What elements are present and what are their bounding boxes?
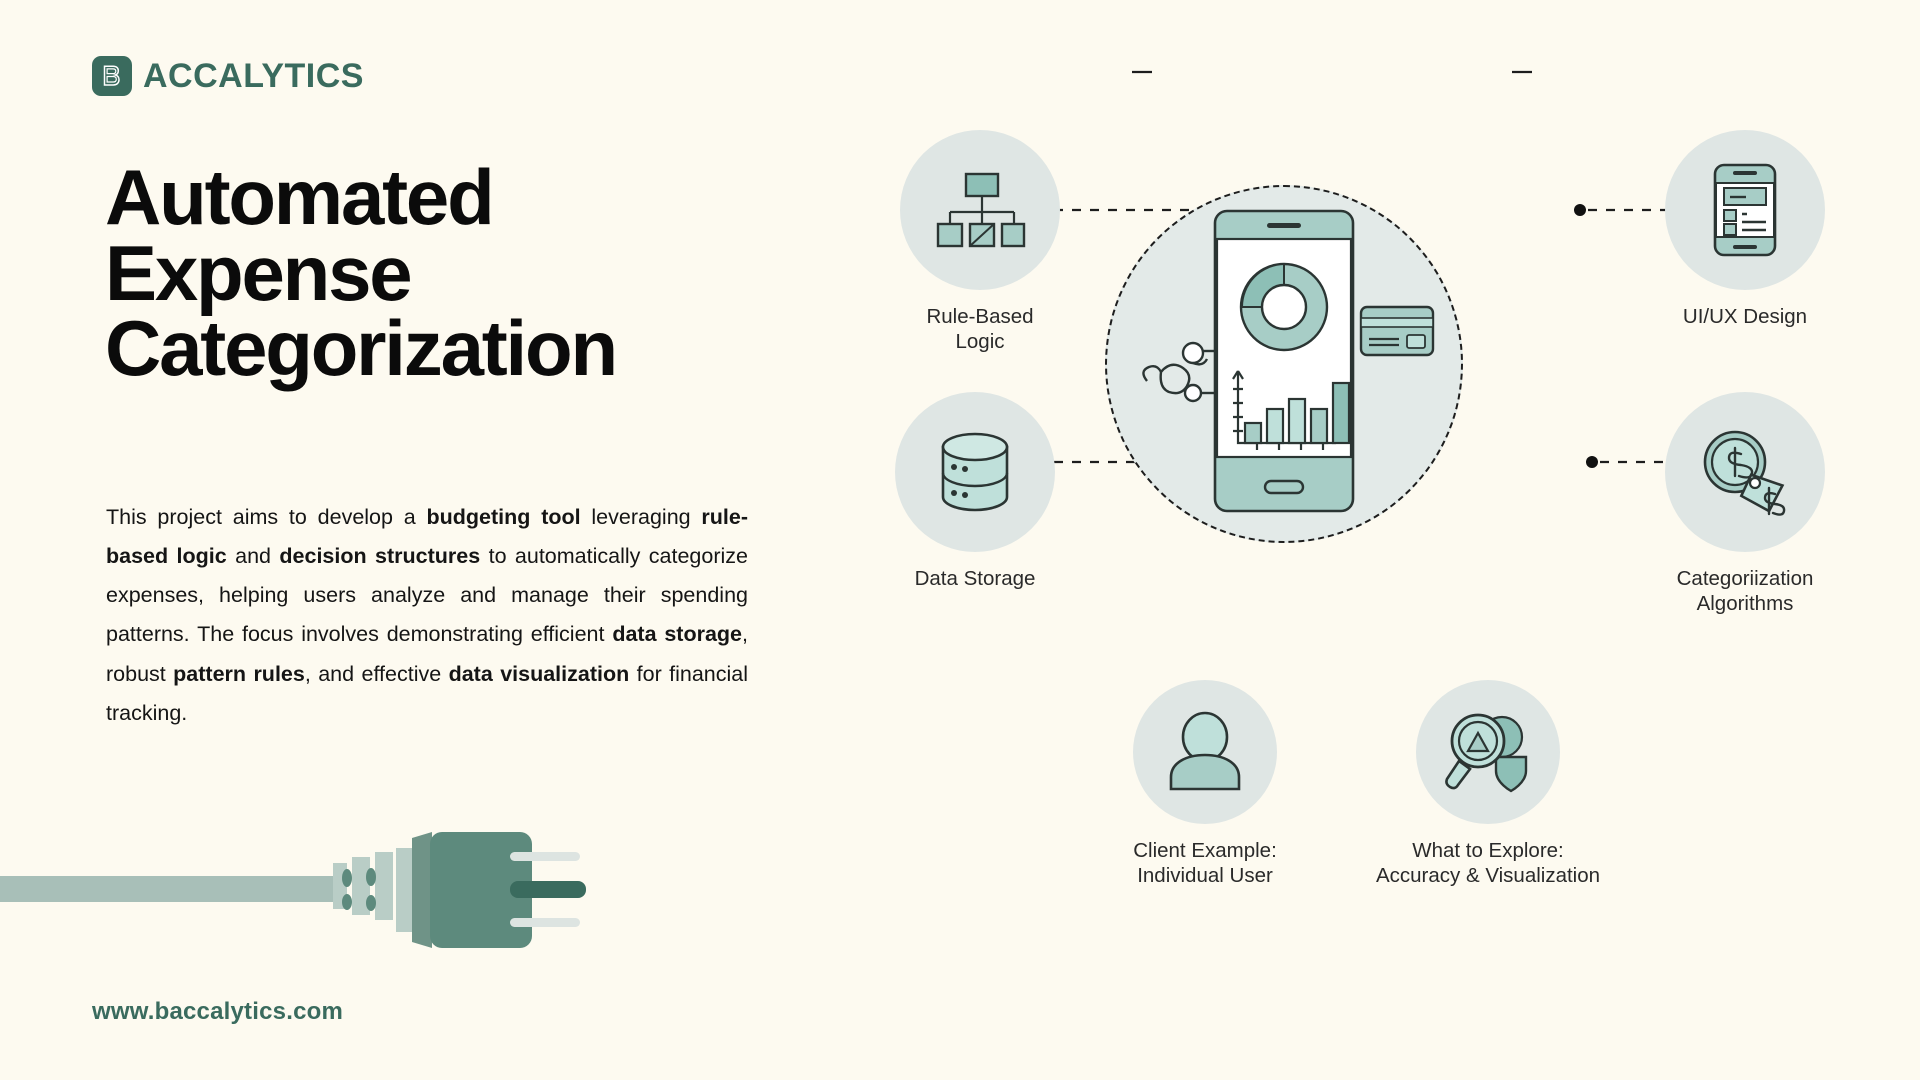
mobile-wireframe-icon [1665, 130, 1825, 290]
database-cylinder-icon [895, 392, 1055, 552]
magnifier-shield-icon [1416, 680, 1560, 824]
description-segment-4: and [227, 544, 280, 568]
b-monogram-icon [99, 63, 125, 89]
description-segment-11: data visualization [449, 662, 630, 686]
description-segment-1: budgeting tool [427, 505, 581, 529]
node-what-to-explore[interactable]: What to Explore: Accuracy & Visualizatio… [1348, 680, 1628, 888]
description-segment-7: data storage [612, 622, 742, 646]
page-title: Automated Expense Categorization [105, 160, 865, 387]
node-label-client-example: Client Example: Individual User [1115, 838, 1295, 888]
description-segment-2: leveraging [581, 505, 702, 529]
node-client-example[interactable]: Client Example: Individual User [1115, 680, 1295, 888]
title-line-1: Automated [105, 160, 865, 236]
node-categorization-algorithms[interactable]: Categoriization Algorithms [1665, 392, 1825, 616]
description-segment-5: decision structures [279, 544, 480, 568]
node-rule-based-logic[interactable]: Rule-Based Logic [900, 130, 1060, 354]
description-segment-0: This project aims to develop a [106, 505, 427, 529]
node-label-rule-based-logic: Rule-Based Logic [900, 304, 1060, 354]
node-label-ui-ux-design: UI/UX Design [1665, 304, 1825, 329]
node-ui-ux-design[interactable]: UI/UX Design [1665, 130, 1825, 329]
node-data-storage[interactable]: Data Storage [895, 392, 1055, 591]
title-line-2: Expense [105, 236, 865, 312]
description-segment-10: , and effective [305, 662, 449, 686]
node-label-what-to-explore: What to Explore: Accuracy & Visualizatio… [1348, 838, 1628, 888]
description-paragraph: This project aims to develop a budgeting… [106, 498, 748, 733]
smartphone-analytics-dashboard-icon [1105, 185, 1463, 543]
poster-canvas: ACCALYTICS Automated Expense Categorizat… [0, 0, 1920, 1080]
footer-website-url[interactable]: www.baccalytics.com [92, 998, 343, 1026]
concept-diagram: Rule-Based Logic Data Storage [900, 30, 1910, 1040]
coin-price-tag-icon [1665, 392, 1825, 552]
title-line-3: Categorization [105, 311, 865, 387]
logo-mark-icon [92, 56, 132, 96]
hierarchy-tree-icon [900, 130, 1060, 290]
hub-node [1105, 185, 1463, 543]
brand-name: ACCALYTICS [143, 59, 364, 93]
electrical-plug-illustration [0, 808, 600, 973]
description-segment-9: pattern rules [173, 662, 305, 686]
plug-icon [0, 808, 600, 973]
node-label-data-storage: Data Storage [895, 566, 1055, 591]
node-label-categorization-algorithms: Categoriization Algorithms [1665, 566, 1825, 616]
brand-logo[interactable]: ACCALYTICS [92, 56, 364, 96]
user-avatar-icon [1133, 680, 1277, 824]
